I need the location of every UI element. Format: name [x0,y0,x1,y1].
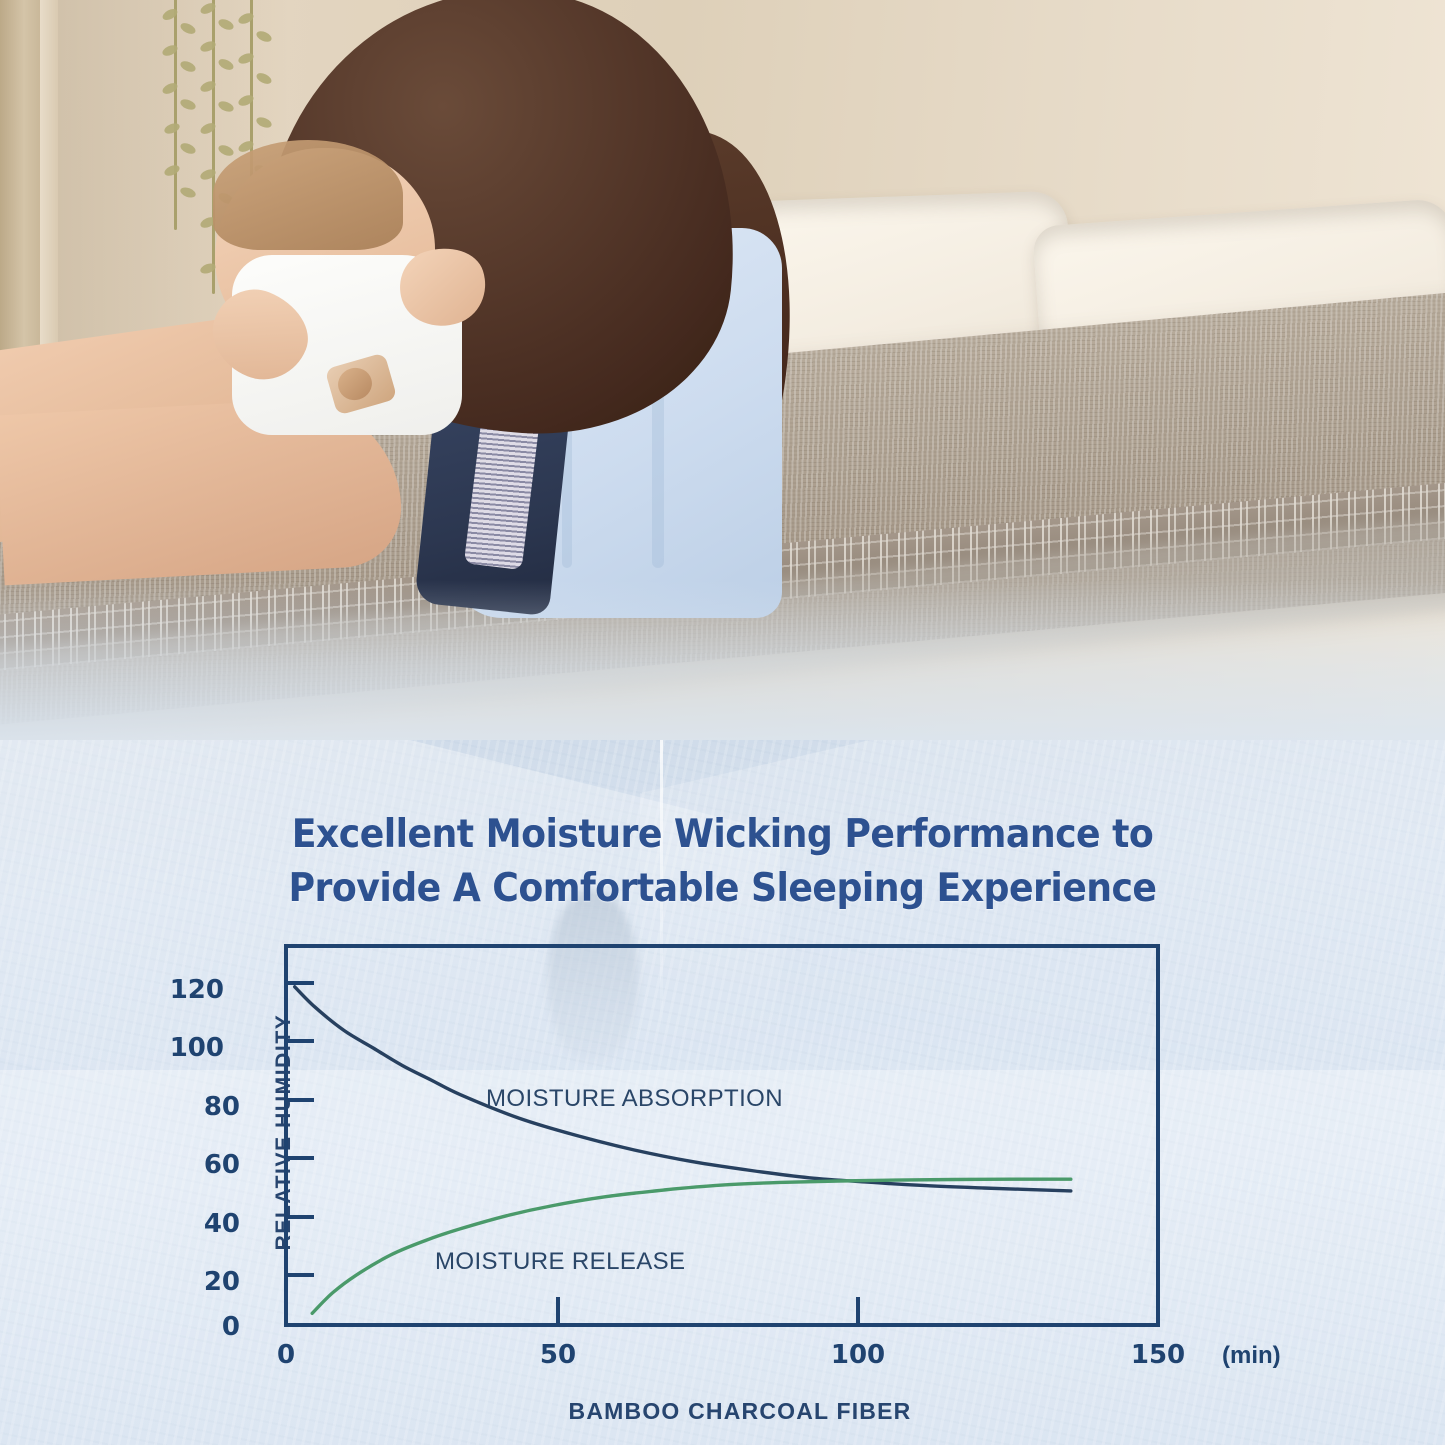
series-label-release: MOISTURE RELEASE [435,1248,685,1276]
x-tick-marks [558,1297,858,1325]
x-axis-title: BAMBOO CHARCOAL FIBER [150,1398,1330,1425]
x-tick-label: 150 [1113,1340,1203,1370]
page-title-line-2: Provide A Comfortable Sleeping Experienc… [51,862,1395,916]
x-tick-label: 50 [513,1340,603,1370]
y-tick-marks [286,983,314,1275]
humidity-chart: RELATIVE HUMIDITY 0 20 40 60 80 100 120 [150,930,1330,1430]
plot-frame [286,946,1158,1325]
x-tick-label: 0 [241,1340,331,1370]
series-label-absorption: MOISTURE ABSORPTION [486,1085,783,1113]
page-title-line-1: Excellent Moisture Wicking Performance t… [51,808,1395,862]
baby-hair [213,140,403,250]
mother-and-baby [0,0,780,640]
page-title: Excellent Moisture Wicking Performance t… [0,808,1445,916]
lifestyle-photo [0,0,1445,770]
x-tick-label: 100 [813,1340,903,1370]
x-axis-unit: (min) [1222,1342,1281,1370]
product-infographic: Excellent Moisture Wicking Performance t… [0,0,1445,1445]
series-moisture-release [312,1179,1071,1313]
